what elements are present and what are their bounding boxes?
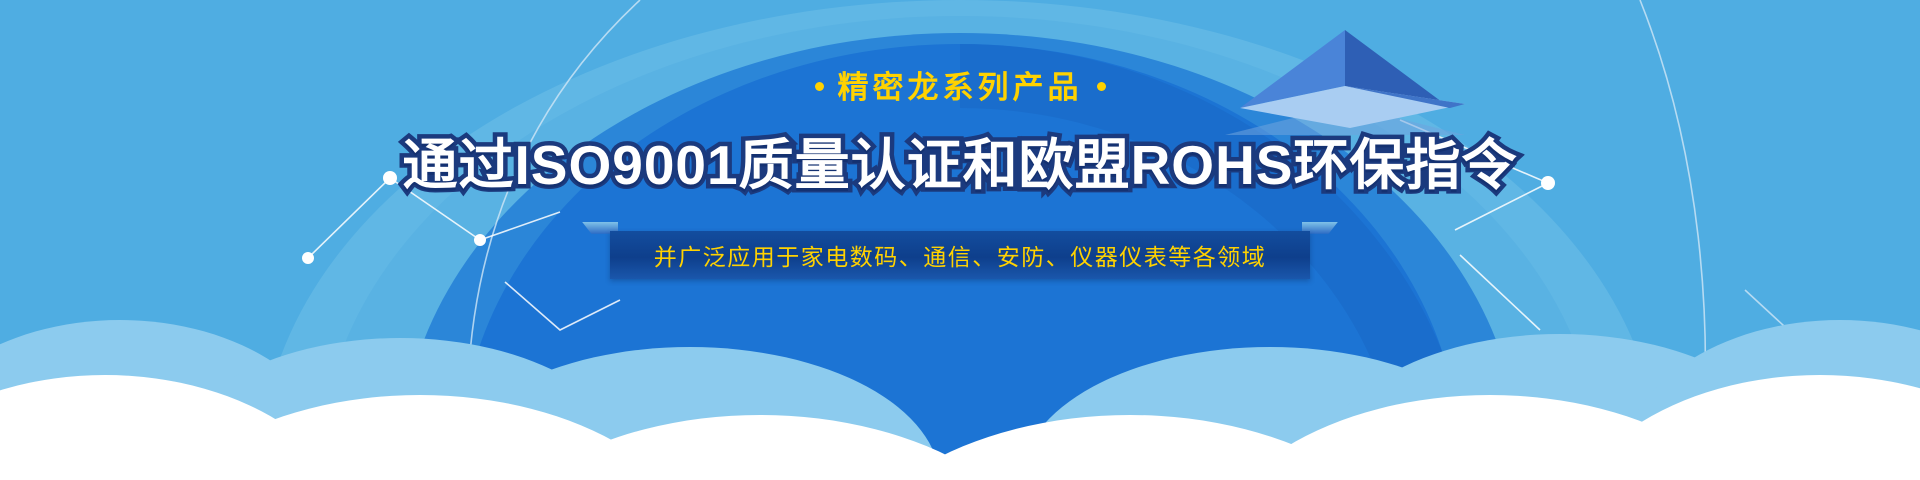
ribbon-text: 并广泛应用于家电数码、通信、安防、仪器仪表等各领域 xyxy=(654,238,1267,272)
banner-content: 精密龙系列产品 通过ISO9001质量认证和欧盟ROHS环保指令 并广泛应用于家… xyxy=(0,0,1920,279)
ribbon-body: 并广泛应用于家电数码、通信、安防、仪器仪表等各领域 xyxy=(610,231,1310,279)
eyebrow-text: 精密龙系列产品 xyxy=(838,70,1083,105)
hero-banner: 精密龙系列产品 通过ISO9001质量认证和欧盟ROHS环保指令 并广泛应用于家… xyxy=(0,0,1920,480)
bullet-dot-right-icon xyxy=(1097,82,1106,91)
bullet-dot-left-icon xyxy=(815,82,824,91)
banner-ribbon: 并广泛应用于家电数码、通信、安防、仪器仪表等各领域 xyxy=(610,231,1310,279)
banner-eyebrow: 精密龙系列产品 xyxy=(0,72,1920,103)
banner-headline: 通过ISO9001质量认证和欧盟ROHS环保指令 xyxy=(0,137,1920,195)
